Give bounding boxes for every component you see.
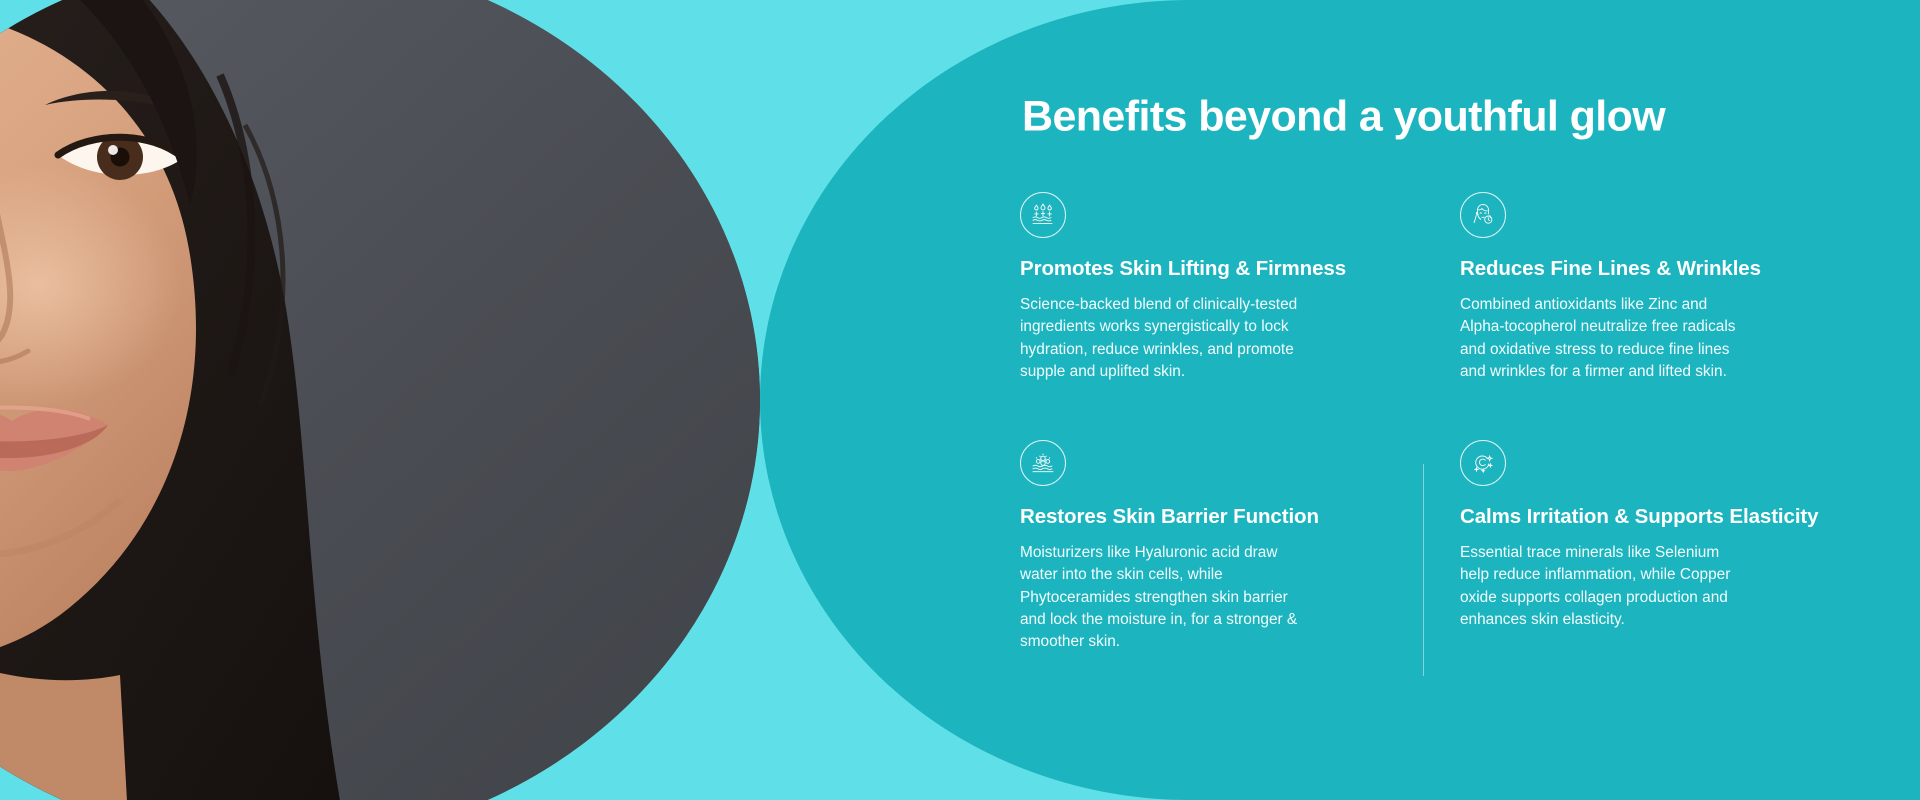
benefit-card-irritation-elasticity[interactable]: Calms Irritation & Supports Elasticity E… bbox=[1424, 440, 1884, 690]
benefits-section: Benefits beyond a youthful glow bbox=[0, 0, 1920, 800]
benefit-card-lifting-firmness[interactable]: Promotes Skin Lifting & Firmness Science… bbox=[1020, 192, 1424, 440]
benefit-title: Promotes Skin Lifting & Firmness bbox=[1020, 257, 1400, 281]
benefit-body: Essential trace minerals like Selenium h… bbox=[1460, 542, 1884, 631]
hero-photo bbox=[0, 0, 760, 800]
skin-hydration-droplets-icon bbox=[1020, 192, 1066, 238]
benefits-grid: Promotes Skin Lifting & Firmness Science… bbox=[1020, 192, 1920, 690]
benefit-body: Combined antioxidants like Zinc and Alph… bbox=[1460, 294, 1884, 383]
benefit-card-skin-barrier[interactable]: Restores Skin Barrier Function Moisturiz… bbox=[1020, 440, 1424, 690]
vitamin-c-sparkle-icon bbox=[1460, 440, 1506, 486]
page-title: Benefits beyond a youthful glow bbox=[1022, 93, 1665, 142]
benefit-title: Calms Irritation & Supports Elasticity bbox=[1460, 505, 1884, 529]
benefits-row: Restores Skin Barrier Function Moisturiz… bbox=[1020, 440, 1920, 690]
benefit-body: Moisturizers like Hyaluronic acid draw w… bbox=[1020, 542, 1400, 653]
face-wrinkle-analysis-icon bbox=[1460, 192, 1506, 238]
benefit-title: Restores Skin Barrier Function bbox=[1020, 505, 1400, 529]
benefits-row: Promotes Skin Lifting & Firmness Science… bbox=[1020, 192, 1920, 440]
benefit-card-fine-lines-wrinkles[interactable]: Reduces Fine Lines & Wrinkles Combined a… bbox=[1424, 192, 1884, 440]
benefit-body: Science-backed blend of clinically-teste… bbox=[1020, 294, 1400, 383]
skin-barrier-molecule-icon bbox=[1020, 440, 1066, 486]
portrait-illustration bbox=[0, 0, 760, 800]
benefit-title: Reduces Fine Lines & Wrinkles bbox=[1460, 257, 1884, 281]
benefits-content: Benefits beyond a youthful glow bbox=[1020, 0, 1920, 800]
